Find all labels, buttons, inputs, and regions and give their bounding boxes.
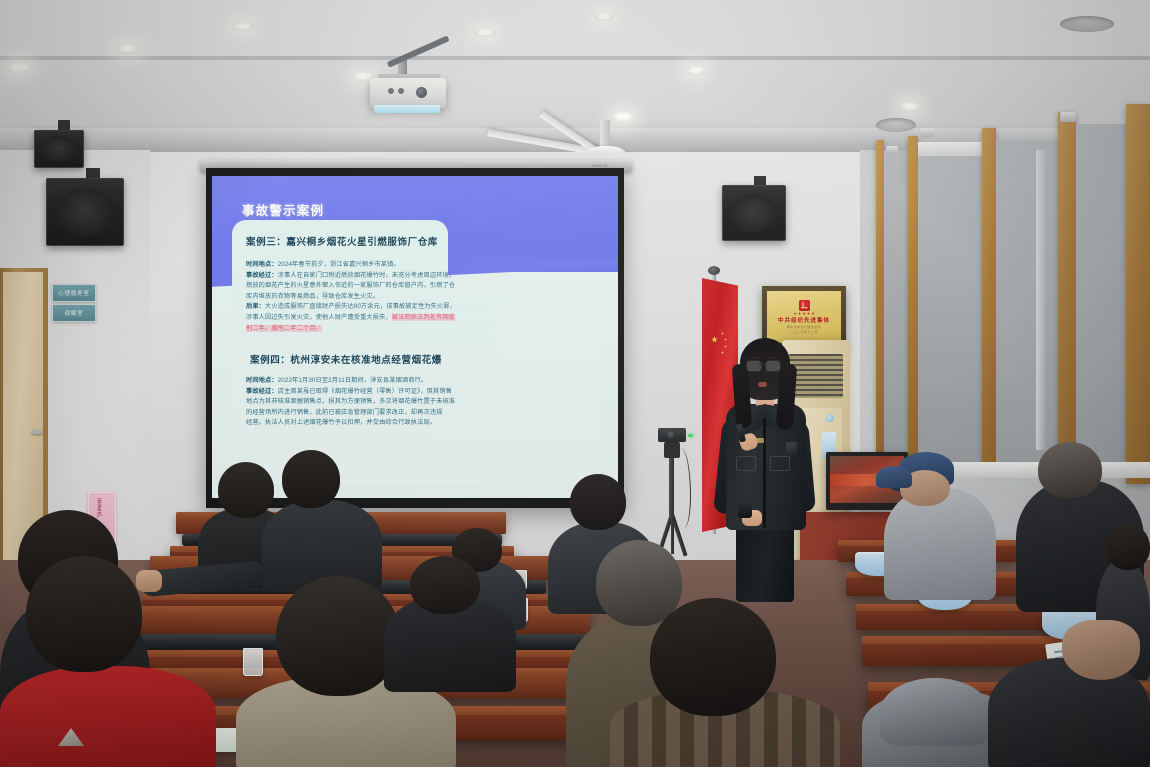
camera-recording-indicator xyxy=(688,434,693,437)
speaker-bracket xyxy=(754,176,766,185)
ceiling-downlight xyxy=(6,62,32,73)
door-handle[interactable] xyxy=(32,430,42,434)
case3-line5-label: 后果： xyxy=(246,303,265,310)
ceiling-downlight xyxy=(474,28,496,37)
case3-line1-label: 时间地点： xyxy=(246,261,278,268)
ac-power-indicator-icon xyxy=(826,414,834,422)
ceiling-slab xyxy=(0,0,1150,60)
presenter-mouth xyxy=(758,382,767,387)
slide-case3-body: 时间地点：2024年春节前夕，浙江省嘉兴桐乡市某镇。 事故经过：涉事人在自家门口… xyxy=(246,260,586,334)
presenter-eyeglass-lens xyxy=(765,360,781,372)
sidebar-item-psychological-service-room[interactable]: 心理服务室 xyxy=(52,284,96,302)
ceiling-air-vent xyxy=(876,118,916,132)
presenter-eyeglass-lens xyxy=(746,360,762,372)
window-blind xyxy=(918,156,982,464)
case4-line3: 地点为其非核准案据销售点，损其为方便销售，多次将烟花爆竹置于未核准 xyxy=(246,398,455,405)
wall-speaker-upper-left xyxy=(34,130,84,168)
presenter-eyeglass-bridge xyxy=(759,364,765,365)
case4-line4: 的经营场所内进行销售，此前已被应急管理部门要求改正，却再次违规 xyxy=(246,409,442,416)
ceiling-downlight xyxy=(232,22,254,31)
case3-line5: 大火造成服饰厂直接财产损失达80万余元，该事故被定性为失火罪， xyxy=(265,303,456,310)
audience-member-head xyxy=(282,450,340,508)
projector-lens-icon xyxy=(416,87,427,98)
audience-member-head xyxy=(570,474,626,530)
window-blind xyxy=(996,140,1058,470)
case3-line2-label: 事故经过： xyxy=(246,272,278,279)
case3-line3: 燃放的烟花产生的火星意外窜入邻近的一家服饰厂的仓库窗户内，引燃了仓 xyxy=(246,282,455,289)
window-blind xyxy=(1076,124,1126,470)
projector-port xyxy=(398,88,404,94)
presenter-in-uniform xyxy=(712,338,816,598)
audience-member-hood xyxy=(880,678,990,746)
plaque-date-text: 二〇二四年十二月 xyxy=(790,330,817,334)
plaque-sub-text: 桐乡市综合行政执法局 xyxy=(787,325,821,329)
ceiling-downlight xyxy=(900,102,920,111)
presenter-eyebrow xyxy=(767,357,778,359)
slide-case4-heading: 案例四：杭州淳安未在核准地点经营烟花爆 xyxy=(250,352,442,366)
presenter-legs xyxy=(736,526,794,602)
ceiling-air-vent xyxy=(1060,16,1114,32)
window-roller-bracket[interactable] xyxy=(1060,112,1076,122)
presenter-eyebrow xyxy=(748,357,759,359)
audience-member-red-jacket xyxy=(0,666,216,767)
window-frame xyxy=(876,140,884,470)
presentation-clicker[interactable] xyxy=(738,502,752,518)
window-frame xyxy=(908,136,918,472)
window-frame xyxy=(1126,104,1150,484)
window-roller-bracket[interactable] xyxy=(920,128,934,137)
plaque-star-icon xyxy=(807,312,810,315)
presenter-jacket-pocket xyxy=(770,456,790,471)
slide-case4-body: 时间地点：2022年1月30日至2月11日期间，淳安县某烟酒商行。 事故经过：店… xyxy=(246,376,592,429)
window-top-light-strip xyxy=(918,142,982,156)
ceiling-downlight xyxy=(116,44,140,54)
camera-lens-icon xyxy=(667,431,675,439)
audience-cap xyxy=(876,466,912,488)
sidebar-item-mediation-room[interactable]: 调解室 xyxy=(52,304,96,322)
case4-line5: 经营。执法人员对上述烟花爆竹予以扣押，并交由综合行政执法局。 xyxy=(246,419,436,426)
plaque-star-icon xyxy=(812,312,815,315)
presentation-slide: 事故警示案例 案例三：嘉兴桐乡烟花火星引燃服饰厂仓库 时间地点：2024年春节前… xyxy=(212,176,618,498)
case3-line6: 涉事人因过失引发火灾，使他人财产遭受重大损失， xyxy=(246,314,392,321)
speaker-bracket xyxy=(86,168,100,178)
camera-body xyxy=(664,442,680,458)
audience-member-grey-jacket xyxy=(884,488,996,600)
plaque-star-icon xyxy=(803,312,806,315)
presenter-jacket-pocket xyxy=(736,456,756,471)
ceiling-downlight xyxy=(612,112,634,122)
case4-line2: 店主周某虽已取得《烟花爆竹经营（零售）许可证》，但其销售 xyxy=(278,388,452,395)
ceiling-shadow-line xyxy=(0,56,1150,60)
projector-port xyxy=(388,88,394,94)
video-camera xyxy=(658,428,686,442)
ceiling-projector xyxy=(370,78,446,108)
window-frame xyxy=(982,128,996,472)
window-frame xyxy=(1058,112,1076,472)
audience-hand xyxy=(136,570,162,592)
presenter-jacket-placket xyxy=(763,418,766,528)
plaque-inner: 中共组织先进集体 桐乡市综合行政执法局 二〇二四年十二月 xyxy=(767,291,841,343)
audience-member-head xyxy=(276,576,400,696)
audience-member-head xyxy=(1062,620,1140,680)
audience-member-head xyxy=(1106,524,1150,570)
case4-line2-label: 事故经过： xyxy=(246,388,278,395)
slide-title: 事故警示案例 xyxy=(242,200,324,219)
audience-member-head xyxy=(26,556,142,672)
party-emblem-icon xyxy=(799,300,810,311)
case3-line4: 库内堆放的衣物等易燃品，导致仓库发生火灾。 xyxy=(246,293,379,300)
speaker-bracket xyxy=(58,120,70,130)
projector-light-glow xyxy=(374,105,440,113)
case3-line2: 涉事人在自家门口附近燃放烟花爆竹时，未充分考虑周边环境， xyxy=(278,272,455,279)
audience-member-head xyxy=(218,462,274,518)
plaque-star-icon xyxy=(798,312,801,315)
sign-label-mediation-room: 调解室 xyxy=(65,309,84,317)
audience-member-head xyxy=(410,556,480,614)
case3-line1: 2024年春节前夕，浙江省嘉兴桐乡市某镇。 xyxy=(278,261,400,268)
sign-label-psychological-service-room: 心理服务室 xyxy=(58,289,90,297)
window-blind xyxy=(884,150,910,462)
audience-member-head xyxy=(650,598,776,716)
window-glass-reflection xyxy=(1036,150,1046,450)
ceiling-downlight xyxy=(594,12,614,21)
case4-line1: 2022年1月30日至2月11日期间，淳安县某烟酒商行。 xyxy=(278,377,428,384)
plaque-star-icon xyxy=(794,312,797,315)
wall-speaker-left xyxy=(46,178,124,246)
flag-pole-finial xyxy=(708,266,720,275)
audience-member-shoulders xyxy=(988,658,1150,767)
plaque-stars xyxy=(794,312,815,315)
wall-notice-text: 安全生产 xyxy=(95,498,102,518)
conference-room-photo: SANCE 事故警示案例 案例三：嘉兴桐乡烟花火星引燃服饰厂仓库 时间地点：20… xyxy=(0,0,1150,767)
ceiling-downlight xyxy=(686,66,706,75)
water-cup[interactable] xyxy=(243,648,263,676)
case3-line6-highlight: 被法院依法判处有期徒 xyxy=(392,314,455,321)
audience-member-head xyxy=(1038,442,1102,498)
plaque-main-text: 中共组织先进集体 xyxy=(778,316,830,324)
case4-line1-label: 时间地点： xyxy=(246,377,278,384)
presenter-shoulder-patch xyxy=(786,442,797,454)
window-roller-bracket[interactable] xyxy=(886,146,898,153)
wall-speaker-center xyxy=(722,185,786,241)
case3-line7-highlight: 刑二年、缓刑二年二个月。 xyxy=(246,325,322,332)
flag-small-star-icon xyxy=(721,332,724,335)
slide-case3-heading: 案例三：嘉兴桐乡烟花火星引燃服饰厂仓库 xyxy=(246,234,438,248)
